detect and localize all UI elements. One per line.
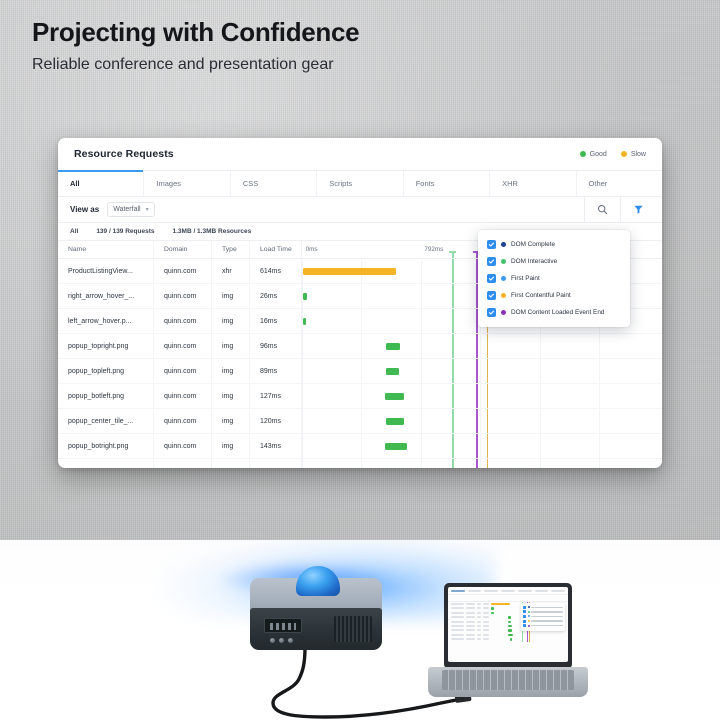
tab-label: Scripts [329,179,352,188]
dropdown-item-label: DOM Interactive [511,258,557,265]
legend-item-slow: Slow [621,151,646,158]
mini-marker [527,637,528,641]
metrics-dropdown-panel: DOM CompleteDOM InteractiveFirst PaintFi… [478,230,630,327]
grid-line [302,434,303,458]
metric-color-dot-icon [501,310,506,315]
timing-marker-line [476,434,478,458]
mini-cell [483,616,489,618]
grid-line [421,284,422,308]
mini-waterfall-bar [510,638,513,640]
timing-marker-line [452,409,454,433]
filter-button[interactable] [620,197,656,223]
mini-cell [466,616,475,618]
cell-type: img [212,284,250,308]
timing-marker-line [476,409,478,433]
dropdown-item-label: First Contentful Paint [511,292,571,299]
chevron-down-icon: ▾ [146,206,149,213]
table-row[interactable]: popup_botleft.pngquinn.comimg127ms [58,384,662,409]
column-header-load-time[interactable]: Load Time [250,241,302,258]
table-row[interactable]: popup_topleft.pngquinn.comimg89ms [58,359,662,384]
cell-type: img [212,409,250,433]
table-row[interactable]: popup_center_tile_...quinn.comimg120ms [58,409,662,434]
mini-waterfall-bar [508,616,511,618]
grid-line [361,334,362,358]
grid-line [361,409,362,433]
cell-domain: quinn.com [154,459,212,468]
waterfall-bar[interactable] [303,318,305,325]
grid-line [540,434,541,458]
waterfall-bar[interactable] [386,368,399,375]
mini-toolbar [448,595,568,602]
mini-tab [451,590,465,592]
cell-name: popup_center_tile_... [58,409,154,433]
timing-marker-line [452,359,454,383]
mini-cell [477,612,481,614]
table-row[interactable]: indexasync.cssquinn.comcss22ms [58,459,662,468]
grid-line [302,384,303,408]
slow-dot-icon [621,151,627,157]
timing-marker-line [452,309,454,333]
axis-tick-label: 0ms [306,246,318,253]
cell-type: img [212,359,250,383]
cell-name: popup_botleft.png [58,384,154,408]
mini-cell [466,603,475,605]
grid-line [421,259,422,283]
legend-label-slow: Slow [631,151,646,158]
dropdown-item[interactable]: DOM Complete [478,236,630,253]
mini-cell [451,616,464,618]
timing-marker-line [487,384,489,408]
cell-load-time: 22ms [250,459,302,468]
cell-domain: quinn.com [154,359,212,383]
cell-load-time: 143ms [250,434,302,458]
mini-waterfall-bar [491,603,510,605]
dropdown-item-label: First Paint [511,275,540,282]
mini-cell [483,607,489,609]
projector-button-2[interactable] [279,638,284,643]
cell-waterfall [302,459,662,468]
legend-label-good: Good [590,151,607,158]
cell-type: img [212,334,250,358]
dropdown-item-label: DOM Complete [511,241,555,248]
cell-name: indexasync.css [58,459,154,468]
timing-marker-line [452,259,454,283]
column-header-type[interactable]: Type [212,241,250,258]
mini-cell [477,616,481,618]
cell-load-time: 26ms [250,284,302,308]
mini-waterfall [491,634,565,636]
mini-color-dot-icon [528,625,530,627]
search-button[interactable] [584,197,620,223]
mini-dropdown-panel [521,603,565,631]
timing-marker-line [487,459,489,468]
grid-line [480,434,481,458]
cell-name: left_arrow_hover.p... [58,309,154,333]
cell-name: popup_botright.png [58,434,154,458]
cell-type: img [212,434,250,458]
cell-type: img [212,384,250,408]
view-as-value: Waterfall [113,206,140,213]
metric-color-dot-icon [501,259,506,264]
mini-waterfall-bar [491,612,494,614]
projector-button-1[interactable] [270,638,275,643]
grid-line [480,334,481,358]
grid-line [480,459,481,468]
timing-marker-line [487,409,489,433]
mini-color-dot-icon [528,606,530,608]
mini-cell [451,629,464,631]
timing-marker-line [487,359,489,383]
timing-marker-line [452,459,454,468]
mini-label [531,607,563,609]
grid-line [599,334,600,358]
filter-tabs: All Images CSS Scripts Fonts XHR Other [58,171,662,197]
summary-resources: 1.3MB / 1.3MB Resources [173,228,252,235]
tab-label: Other [589,179,608,188]
grid-line [361,434,362,458]
axis-tick-label: 792ms [424,246,443,253]
mini-cell [483,638,489,640]
timing-marker-cap [449,251,456,253]
grid-line [599,434,600,458]
timing-marker-line [452,334,454,358]
mini-cell [451,607,464,609]
waterfall-bar[interactable] [385,393,404,400]
mini-waterfall-bar [508,629,512,631]
grid-line [421,384,422,408]
grid-line [540,334,541,358]
waterfall-bar[interactable] [385,443,406,450]
mini-cell [483,625,489,627]
mini-color-dot-icon [528,611,530,613]
checkbox-checked-icon[interactable] [487,308,496,317]
mini-checkbox-icon [523,620,526,623]
grid-line [421,409,422,433]
mini-label [531,625,563,627]
tab-label: All [70,179,80,188]
grid-line [480,359,481,383]
tab-xhr[interactable]: XHR [490,171,576,196]
grid-line [421,459,422,468]
grid-line [361,384,362,408]
view-as-select[interactable]: Waterfall ▾ [107,202,154,217]
mini-cell [483,634,489,636]
summary-requests: 139 / 139 Requests [96,228,154,235]
mini-cell [466,629,475,631]
mini-cell [451,612,464,614]
grid-line [302,334,303,358]
cell-waterfall [302,359,662,383]
mini-waterfall-bar [491,607,494,609]
cell-domain: quinn.com [154,434,212,458]
grid-line [361,284,362,308]
page-subtitle: Reliable conference and presentation gea… [32,55,632,74]
cell-type: xhr [212,259,250,283]
grid-line [361,309,362,333]
cell-domain: quinn.com [154,384,212,408]
tab-label: CSS [243,179,258,188]
summary-scope: All [70,228,78,235]
mini-tab [535,590,549,592]
projector-vent-grille [334,616,372,642]
mini-tab [551,590,565,592]
laptop-lid [444,583,572,669]
tab-css[interactable]: CSS [231,171,317,196]
checkbox-checked-icon[interactable] [487,257,496,266]
mini-cell [466,638,475,640]
dropdown-item[interactable]: DOM Interactive [478,253,630,270]
grid-line [599,409,600,433]
mini-cell [466,607,475,609]
checkbox-checked-icon[interactable] [487,291,496,300]
card-title: Resource Requests [74,148,174,160]
mini-waterfall-bar [508,634,512,636]
mini-checkbox-icon [523,610,526,613]
laptop-screen [448,587,568,662]
mini-cell [451,621,464,623]
mini-tab [501,590,515,592]
mini-cell [466,612,475,614]
cell-load-time: 89ms [250,359,302,383]
cell-load-time: 127ms [250,384,302,408]
mini-cell [483,621,489,623]
waterfall-bar[interactable] [303,268,395,275]
mini-cell [477,625,481,627]
column-header-domain[interactable]: Domain [154,241,212,258]
cell-domain: quinn.com [154,334,212,358]
cell-waterfall [302,334,662,358]
timing-marker-line [487,334,489,358]
cell-domain: quinn.com [154,409,212,433]
grid-line [540,409,541,433]
grid-line [302,459,303,468]
cell-name: right_arrow_hover_... [58,284,154,308]
waterfall-bar[interactable] [303,293,307,300]
tab-label: XHR [502,179,518,188]
mini-cell [451,625,464,627]
grid-line [599,459,600,468]
mini-color-dot-icon [528,620,530,622]
mini-waterfall [491,638,565,640]
timing-marker-line [452,284,454,308]
timing-marker-line [452,384,454,408]
mini-checkbox-icon [523,606,526,609]
mini-marker [522,637,523,641]
tab-fonts[interactable]: Fonts [404,171,490,196]
card-header: Resource Requests Good Slow [58,138,662,171]
mini-cell [451,638,464,640]
cell-name: popup_topleft.png [58,359,154,383]
legend-item-good: Good [580,151,607,158]
laptop-trackpad[interactable] [486,691,530,695]
mini-checkbox-icon [523,624,526,627]
mini-cell [483,612,489,614]
view-as-label: View as [70,205,99,214]
mini-color-dot-icon [528,615,530,617]
metric-color-dot-icon [501,293,506,298]
grid-line [480,384,481,408]
tab-images[interactable]: Images [144,171,230,196]
timing-marker-line [452,434,454,458]
tab-label: Images [156,179,181,188]
mini-cell [466,634,475,636]
projector-button-3[interactable] [288,638,293,643]
tab-label: Fonts [416,179,435,188]
mini-cell [483,603,489,605]
dropdown-item[interactable]: DOM Content Loaded Event End [478,304,630,321]
column-header-name[interactable]: Name [58,241,154,258]
metric-color-dot-icon [501,242,506,247]
cell-domain: quinn.com [154,284,212,308]
status-legend: Good Slow [580,151,646,158]
mini-label [531,611,563,613]
mini-waterfall-bar [508,625,512,627]
page-title: Projecting with Confidence [32,18,632,48]
waterfall-bar[interactable] [386,418,404,425]
grid-line [361,359,362,383]
mini-table-row [448,637,568,641]
dropdown-item[interactable]: First Contentful Paint [478,287,630,304]
projector-display [264,618,302,633]
grid-line [540,359,541,383]
mini-cell [477,603,481,605]
cell-type: css [212,459,250,468]
grid-line [480,409,481,433]
tab-scripts[interactable]: Scripts [317,171,403,196]
checkbox-checked-icon[interactable] [487,240,496,249]
waterfall-bar[interactable] [386,343,400,350]
grid-line [421,309,422,333]
mini-cell [483,629,489,631]
mini-label [531,616,563,618]
mini-tabs [448,587,568,595]
laptop-device [428,583,588,710]
cell-name: popup_topright.png [58,334,154,358]
view-toolbar: View as Waterfall ▾ [58,197,662,223]
mini-cell [466,621,475,623]
grid-line [599,384,600,408]
laptop-keyboard[interactable] [442,670,574,690]
cell-waterfall [302,409,662,433]
dropdown-item[interactable]: First Paint [478,270,630,287]
timing-marker-line [476,384,478,408]
mini-waterfall-bar [508,621,511,623]
mini-marker [529,637,530,641]
projector-device [250,578,382,650]
mini-cell [466,625,475,627]
dropdown-item-label: DOM Content Loaded Event End [511,309,604,316]
cell-domain: quinn.com [154,309,212,333]
mini-cell [477,638,481,640]
filter-icon [633,204,644,215]
mini-cell [477,629,481,631]
cell-domain: quinn.com [154,259,212,283]
grid-line [302,359,303,383]
cell-waterfall [302,384,662,408]
grid-line [361,459,362,468]
cell-load-time: 120ms [250,409,302,433]
mini-tab [484,590,498,592]
mini-tab [468,590,482,592]
cell-type: img [212,309,250,333]
cell-load-time: 16ms [250,309,302,333]
timing-marker-line [476,334,478,358]
mini-checkbox-icon [523,615,526,618]
headline-block: Projecting with Confidence Reliable conf… [32,18,632,74]
mini-cell [451,634,464,636]
cell-load-time: 96ms [250,334,302,358]
timing-marker-head [452,251,454,258]
tab-other[interactable]: Other [577,171,662,196]
grid-line [421,334,422,358]
grid-line [540,459,541,468]
mini-cell [477,621,481,623]
grid-line [540,384,541,408]
cell-waterfall [302,434,662,458]
mini-tab [518,590,532,592]
metric-color-dot-icon [501,276,506,281]
grid-line [599,359,600,383]
cell-name: ProductListingView... [58,259,154,283]
mini-label [531,620,563,622]
toolbar-actions [584,197,656,223]
timing-marker-line [476,359,478,383]
timing-marker-line [476,459,478,468]
product-photo-scene [0,540,720,720]
checkbox-checked-icon[interactable] [487,274,496,283]
search-icon [597,204,608,215]
timing-marker-line [487,434,489,458]
grid-line [421,359,422,383]
grid-line [302,409,303,433]
mini-cell [477,634,481,636]
table-row[interactable]: popup_topright.pngquinn.comimg96ms [58,334,662,359]
grid-line [421,434,422,458]
mini-cell [451,603,464,605]
tab-all[interactable]: All [58,171,144,196]
cell-load-time: 614ms [250,259,302,283]
mini-dropdown-item [523,623,563,628]
table-row[interactable]: popup_botright.pngquinn.comimg143ms [58,434,662,459]
mini-cell [477,607,481,609]
good-dot-icon [580,151,586,157]
